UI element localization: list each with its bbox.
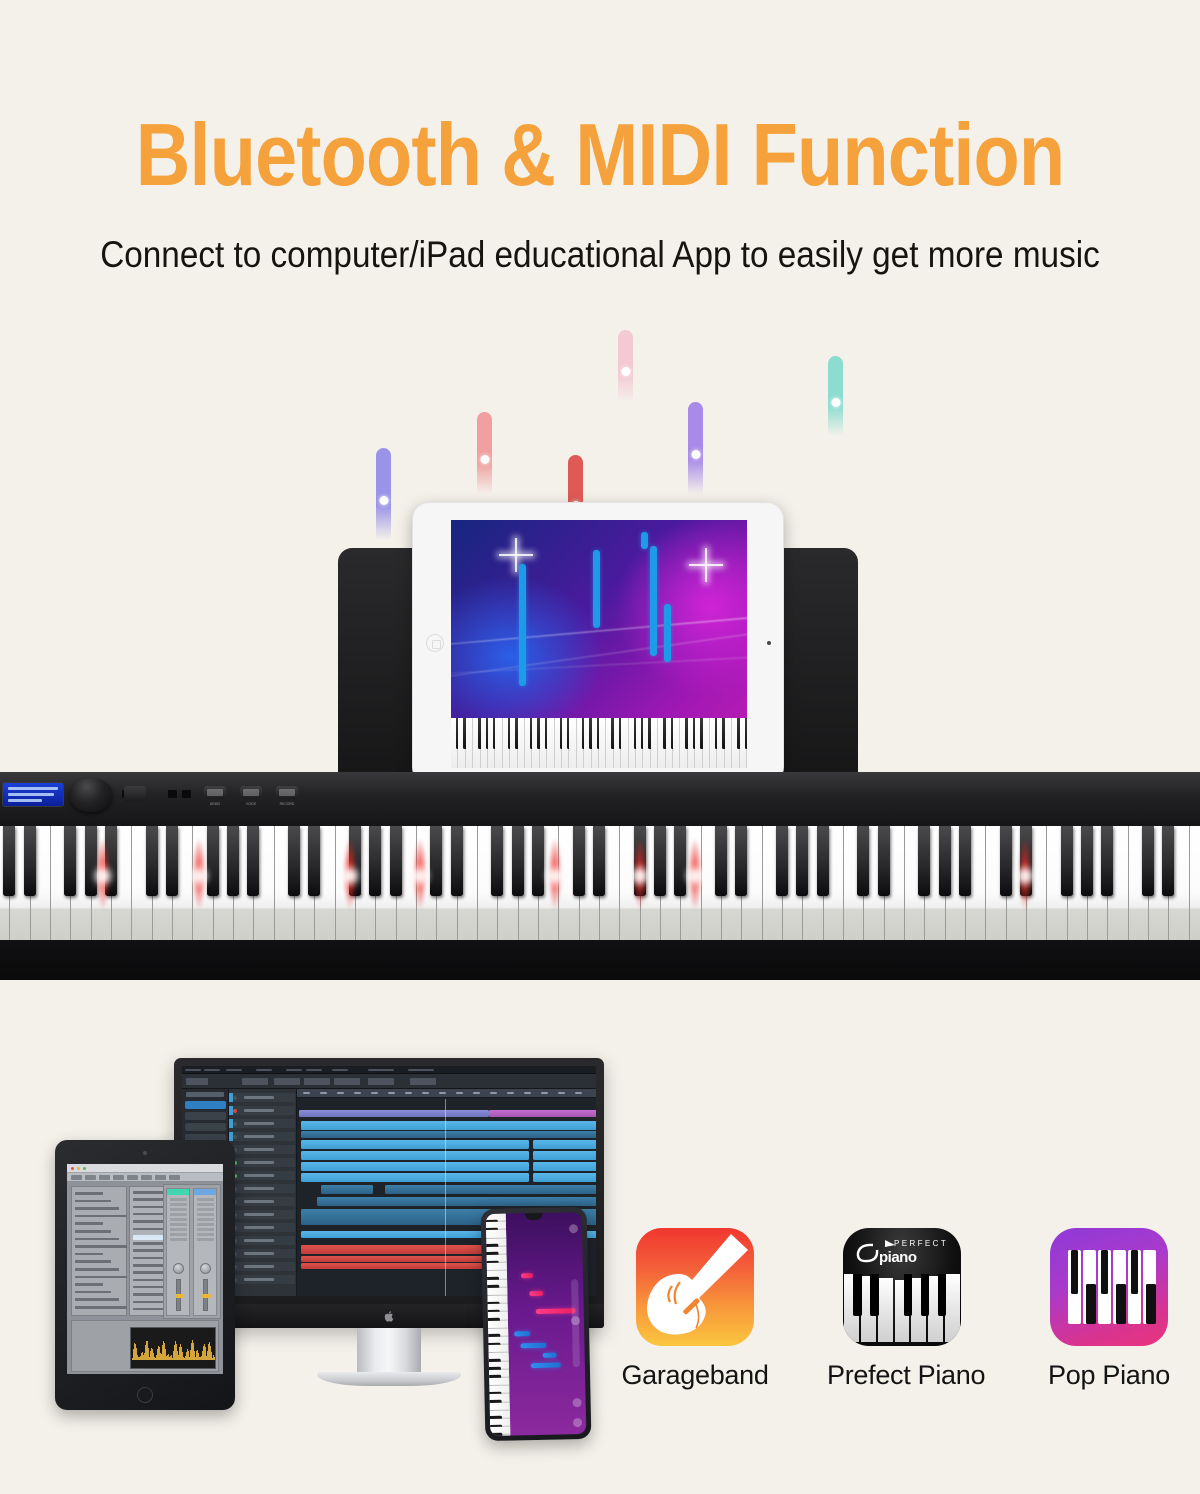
function-button[interactable] <box>124 786 146 802</box>
phone-note <box>529 1291 543 1296</box>
piano-black-key[interactable] <box>64 826 76 896</box>
page-subtitle: Connect to computer/iPad educational App… <box>60 232 1140 278</box>
ruler-tick[interactable] <box>388 1092 395 1094</box>
live-toolbar-button[interactable] <box>113 1175 124 1180</box>
daw-timeline-ruler[interactable] <box>297 1089 596 1098</box>
tablet-device <box>55 1140 235 1410</box>
send-slot[interactable] <box>197 1203 214 1206</box>
phone-note <box>520 1343 546 1349</box>
piano-black-key[interactable] <box>674 826 686 896</box>
device-cluster <box>0 1030 640 1450</box>
browser-item[interactable] <box>75 1207 119 1210</box>
piano-black-key[interactable] <box>745 718 747 749</box>
piano-black-key[interactable] <box>247 826 259 896</box>
apple-logo-icon <box>384 1311 394 1322</box>
live-toolbar-button[interactable] <box>99 1175 110 1180</box>
icon-black-key <box>904 1274 912 1316</box>
live-toolbar-button[interactable] <box>141 1175 152 1180</box>
home-button-icon[interactable] <box>426 634 444 652</box>
piano-black-key[interactable] <box>85 826 97 896</box>
device-list-item[interactable] <box>133 1264 167 1267</box>
ruler-tick[interactable] <box>507 1092 514 1094</box>
phone-note <box>536 1308 576 1314</box>
ruler-tick[interactable] <box>490 1092 497 1094</box>
device-list-item[interactable] <box>133 1191 167 1194</box>
pan-knob[interactable] <box>173 1263 184 1274</box>
phone-vertical-keyboard[interactable] <box>486 1214 511 1436</box>
live-toolbar-button[interactable] <box>127 1175 138 1180</box>
mixer-channel[interactable] <box>193 1188 217 1316</box>
piano-black-key[interactable] <box>430 826 442 896</box>
daw-clip[interactable] <box>385 1185 596 1194</box>
browser-item[interactable] <box>75 1215 127 1218</box>
piano-black-key[interactable] <box>593 826 605 896</box>
volume-knob[interactable] <box>70 778 112 812</box>
note-pink <box>477 412 492 494</box>
live-toolbar[interactable] <box>67 1173 223 1182</box>
window-titlebar[interactable] <box>67 1164 223 1173</box>
record-button-label: RECORD <box>274 802 300 806</box>
send-slot[interactable] <box>170 1218 187 1221</box>
send-slot[interactable] <box>170 1228 187 1231</box>
piano-white-key[interactable] <box>673 718 680 768</box>
live-toolbar-button[interactable] <box>85 1175 96 1180</box>
send-slot[interactable] <box>170 1213 187 1216</box>
icon-black-key <box>853 1274 861 1316</box>
phone-note <box>531 1362 561 1368</box>
send-slot[interactable] <box>197 1233 214 1236</box>
daw-track-row[interactable] <box>231 1184 295 1193</box>
ipad-device <box>412 502 784 784</box>
menu-item[interactable] <box>204 1069 220 1072</box>
camera-icon <box>143 1151 147 1155</box>
piano-black-key[interactable] <box>532 826 544 896</box>
app-note-bar <box>519 564 526 686</box>
piano-black-key[interactable] <box>24 826 36 896</box>
toolbar-button[interactable] <box>368 1078 394 1085</box>
browser-item[interactable] <box>75 1192 103 1195</box>
mixer-channel[interactable] <box>166 1188 190 1316</box>
port-b-icon <box>182 790 191 798</box>
menu-item[interactable] <box>226 1069 242 1072</box>
note-pale-pink-top <box>618 330 633 402</box>
volume-fader[interactable] <box>176 1279 181 1311</box>
piano-black-key[interactable] <box>349 826 361 896</box>
piano-black-key[interactable] <box>959 826 971 896</box>
toolbar-button[interactable] <box>410 1078 436 1085</box>
phone-grid-icon[interactable] <box>573 1398 582 1407</box>
phone-note <box>543 1353 557 1358</box>
ipad-app-keyboard <box>451 718 747 768</box>
daw-track-row[interactable] <box>231 1249 295 1258</box>
page-title: Bluetooth & MIDI Function <box>84 104 1116 206</box>
icon-black-key <box>1131 1250 1138 1294</box>
icon-white-key <box>945 1274 960 1342</box>
menu-item[interactable] <box>256 1069 272 1072</box>
browser-item[interactable] <box>75 1283 103 1286</box>
browser-item[interactable] <box>75 1253 103 1256</box>
send-slot[interactable] <box>197 1218 214 1221</box>
menu-item[interactable] <box>368 1069 394 1072</box>
piano-white-key[interactable] <box>547 718 554 768</box>
daw-clip[interactable] <box>533 1173 596 1182</box>
piano-black-key[interactable] <box>735 826 747 896</box>
daw-clip[interactable] <box>301 1256 503 1262</box>
send-slot[interactable] <box>197 1198 214 1201</box>
piano-black-key[interactable] <box>939 826 951 896</box>
piano-black-key[interactable] <box>1061 826 1073 896</box>
app-perfect-piano[interactable]: PERFECT piano Prefect Piano <box>827 1228 977 1391</box>
live-toolbar-button[interactable] <box>169 1175 180 1180</box>
piano-keys-icon: PERFECT piano <box>843 1228 961 1346</box>
piano-black-key[interactable] <box>166 826 178 896</box>
phone-note <box>514 1331 530 1336</box>
piano-white-key[interactable] <box>466 718 473 768</box>
icon-black-key <box>1116 1284 1126 1324</box>
record-button[interactable] <box>276 786 298 799</box>
daw-track-row[interactable] <box>231 1262 295 1271</box>
app-note-bar <box>641 532 648 549</box>
guitar-icon <box>636 1228 754 1346</box>
send-slot[interactable] <box>197 1223 214 1226</box>
browser-item[interactable] <box>75 1298 119 1301</box>
ruler-tick[interactable] <box>541 1092 548 1094</box>
browser-item[interactable] <box>75 1268 119 1271</box>
piano-white-key[interactable] <box>518 718 525 768</box>
waveform-display[interactable] <box>130 1327 216 1369</box>
piano-black-key[interactable] <box>512 826 524 896</box>
piano-black-key[interactable] <box>573 826 585 896</box>
piano-black-key[interactable] <box>1020 826 1032 896</box>
menu-item[interactable] <box>306 1069 322 1072</box>
piano-base <box>0 940 1200 980</box>
demo-button-label: DEMO <box>202 802 228 806</box>
piano-black-key[interactable] <box>105 826 117 896</box>
daw-track-row[interactable] <box>231 1223 295 1232</box>
note-lavender-left <box>376 448 391 540</box>
browser-item[interactable] <box>75 1276 127 1279</box>
port-a-icon <box>168 790 177 798</box>
piano-black-key[interactable] <box>878 826 890 896</box>
app-garageband-label: Garageband <box>620 1360 770 1391</box>
compatible-apps: Garageband PERFECT piano Prefect Piano P… <box>620 1228 1200 1428</box>
browser-item[interactable] <box>75 1200 111 1203</box>
piano-black-key[interactable] <box>796 826 808 896</box>
piano-black-key[interactable] <box>857 826 869 896</box>
daw-track-row[interactable] <box>231 1197 295 1206</box>
piano-black-key[interactable] <box>654 826 666 896</box>
daw-track-row[interactable] <box>231 1132 295 1141</box>
ruler-tick[interactable] <box>456 1092 463 1094</box>
piano-black-key[interactable] <box>1081 826 1093 896</box>
ruler-tick[interactable] <box>575 1092 582 1094</box>
daw-track-row[interactable] <box>231 1093 295 1102</box>
menu-item[interactable] <box>286 1069 302 1072</box>
piano-black-key[interactable] <box>715 826 727 896</box>
send-slot[interactable] <box>197 1228 214 1231</box>
demo-button[interactable] <box>204 786 226 799</box>
waveform-bar <box>215 1355 216 1360</box>
ruler-tick[interactable] <box>371 1092 378 1094</box>
svg-text:PERFECT: PERFECT <box>894 1239 948 1248</box>
phone-screen[interactable] <box>486 1212 587 1436</box>
daw-clip[interactable] <box>317 1197 596 1206</box>
ruler-tick[interactable] <box>558 1092 565 1094</box>
app-pop-piano[interactable]: Pop Piano <box>1034 1228 1184 1391</box>
digital-piano: DEMO VOICE RECORD <box>0 540 1200 970</box>
ruler-tick[interactable] <box>303 1092 310 1094</box>
piano-black-key[interactable] <box>390 826 402 896</box>
daw-track-row[interactable] <box>231 1158 295 1167</box>
send-slot[interactable] <box>170 1238 187 1241</box>
piano-black-key[interactable] <box>451 826 463 896</box>
menu-item[interactable] <box>408 1069 434 1072</box>
piano-white-key[interactable] <box>495 718 502 768</box>
daw-clip[interactable] <box>301 1245 503 1254</box>
notch <box>525 1213 543 1220</box>
piano-white-key[interactable] <box>1190 826 1200 942</box>
daw-clip[interactable] <box>489 1110 596 1117</box>
piano-keyboard[interactable] <box>0 826 1200 942</box>
app-pop-piano-label: Pop Piano <box>1034 1360 1184 1391</box>
camera-icon <box>767 641 771 645</box>
daw-track-row[interactable] <box>231 1275 295 1284</box>
send-slot[interactable] <box>170 1208 187 1211</box>
app-note-bar <box>664 604 671 662</box>
ruler-tick[interactable] <box>354 1092 361 1094</box>
menu-item[interactable] <box>185 1069 201 1072</box>
piano-black-key[interactable] <box>207 826 219 896</box>
daw-track-row[interactable] <box>231 1210 295 1219</box>
phone-black-key[interactable] <box>490 1433 502 1436</box>
browser-item[interactable] <box>75 1260 111 1263</box>
piano-black-key[interactable] <box>776 826 788 896</box>
send-slot[interactable] <box>170 1233 187 1236</box>
pan-knob[interactable] <box>200 1263 211 1274</box>
daw-track-list[interactable] <box>229 1089 297 1296</box>
app-perfect-piano-label: Prefect Piano <box>827 1360 977 1391</box>
home-button-icon[interactable] <box>137 1387 153 1403</box>
device-list-item[interactable] <box>133 1228 167 1231</box>
icon-black-key <box>1071 1250 1078 1294</box>
piano-black-key[interactable] <box>227 826 239 896</box>
toolbar-button[interactable] <box>242 1078 268 1085</box>
daw-clip[interactable] <box>533 1140 596 1149</box>
voice-button-label: VOICE <box>238 802 264 806</box>
ruler-tick[interactable] <box>320 1092 327 1094</box>
send-slot[interactable] <box>197 1208 214 1211</box>
daw-clip[interactable] <box>301 1140 529 1149</box>
daw-clip[interactable] <box>301 1151 529 1160</box>
ipad-screen[interactable] <box>451 520 747 768</box>
ruler-tick[interactable] <box>337 1092 344 1094</box>
send-slot[interactable] <box>197 1238 214 1241</box>
ruler-tick[interactable] <box>439 1092 446 1094</box>
ruler-tick[interactable] <box>405 1092 412 1094</box>
piano-white-key[interactable] <box>725 718 732 768</box>
daw-track-row[interactable] <box>231 1145 295 1154</box>
lcd-display <box>2 782 64 807</box>
piano-black-key[interactable] <box>3 826 15 896</box>
icon-black-key <box>1086 1284 1096 1324</box>
sidebar-item[interactable] <box>185 1101 226 1109</box>
ruler-tick[interactable] <box>422 1092 429 1094</box>
piano-black-key[interactable] <box>1142 826 1154 896</box>
browser-item[interactable] <box>75 1245 127 1248</box>
daw-clip[interactable] <box>533 1151 596 1160</box>
browser-item[interactable] <box>75 1306 127 1309</box>
piano-black-key[interactable] <box>817 826 829 896</box>
toolbar-button[interactable] <box>186 1078 208 1085</box>
live-detail-panel[interactable] <box>71 1320 219 1372</box>
ruler-tick[interactable] <box>524 1092 531 1094</box>
piano-black-key[interactable] <box>369 826 381 896</box>
note-teal <box>828 356 843 436</box>
live-toolbar-button[interactable] <box>71 1175 82 1180</box>
piano-white-key[interactable] <box>651 718 658 768</box>
icon-black-key <box>870 1274 878 1316</box>
note-purple <box>688 402 703 494</box>
daw-clip[interactable] <box>301 1131 596 1138</box>
daw-track-row[interactable] <box>231 1119 295 1128</box>
app-note-bar <box>650 546 657 656</box>
phone-note <box>521 1273 533 1278</box>
send-slot[interactable] <box>170 1203 187 1206</box>
daw-clip[interactable] <box>299 1110 489 1117</box>
daw-toolbar[interactable] <box>182 1074 596 1089</box>
pop-keys-icon <box>1050 1228 1168 1346</box>
toolbar-button[interactable] <box>304 1078 330 1085</box>
playhead[interactable] <box>445 1099 446 1296</box>
browser-item[interactable] <box>75 1238 119 1241</box>
sidebar-item[interactable] <box>185 1123 226 1131</box>
live-browser-panel[interactable] <box>71 1186 127 1316</box>
voice-button[interactable] <box>240 786 262 799</box>
menu-item[interactable] <box>332 1069 348 1072</box>
browser-item[interactable] <box>75 1291 111 1294</box>
piano-black-key[interactable] <box>308 826 320 896</box>
sidebar-item[interactable] <box>185 1112 226 1120</box>
daw-clip[interactable] <box>321 1185 373 1194</box>
app-note-bar <box>593 550 600 628</box>
browser-item[interactable] <box>75 1222 103 1225</box>
send-slot[interactable] <box>170 1198 187 1201</box>
sidebar-header[interactable] <box>186 1092 224 1097</box>
piano-white-key[interactable] <box>703 718 710 768</box>
smartphone-device <box>481 1207 592 1441</box>
toolbar-button[interactable] <box>334 1078 360 1085</box>
daw-clip[interactable] <box>301 1121 596 1130</box>
piano-white-key[interactable] <box>599 718 606 768</box>
icon-black-key <box>921 1274 929 1316</box>
app-garageband[interactable]: Garageband <box>620 1228 770 1391</box>
piano-black-key[interactable] <box>1000 826 1012 896</box>
icon-black-key <box>1101 1250 1108 1294</box>
daw-track-row[interactable] <box>231 1236 295 1245</box>
piano-black-key[interactable] <box>288 826 300 896</box>
ableton-screen[interactable] <box>67 1164 223 1374</box>
daw-clip[interactable] <box>533 1162 596 1171</box>
live-mixer-panel[interactable] <box>163 1184 221 1319</box>
browser-item[interactable] <box>75 1230 111 1233</box>
phone-menu-icon[interactable] <box>569 1224 578 1233</box>
daw-clip[interactable] <box>301 1263 503 1269</box>
piano-black-key[interactable] <box>1101 826 1113 896</box>
daw-clip[interactable] <box>301 1162 529 1171</box>
phone-power-icon[interactable] <box>573 1418 582 1427</box>
toolbar-button[interactable] <box>274 1078 300 1085</box>
volume-fader[interactable] <box>203 1279 208 1311</box>
daw-menubar[interactable] <box>182 1066 596 1074</box>
piano-black-key[interactable] <box>491 826 503 896</box>
piano-black-key[interactable] <box>634 826 646 896</box>
live-toolbar-button[interactable] <box>155 1175 166 1180</box>
icon-black-key <box>938 1274 946 1316</box>
piano-white-key[interactable] <box>621 718 628 768</box>
daw-clip[interactable] <box>301 1173 529 1182</box>
piano-black-key[interactable] <box>1162 826 1174 896</box>
piano-top-panel <box>0 772 1200 830</box>
daw-track-row[interactable] <box>231 1171 295 1180</box>
device-list-item[interactable] <box>133 1301 167 1304</box>
send-slot[interactable] <box>170 1223 187 1226</box>
daw-track-row[interactable] <box>231 1106 295 1115</box>
piano-black-key[interactable] <box>918 826 930 896</box>
svg-text:piano: piano <box>879 1249 917 1266</box>
piano-white-key[interactable] <box>569 718 576 768</box>
icon-white-key <box>878 1278 893 1342</box>
send-slot[interactable] <box>197 1213 214 1216</box>
ruler-tick[interactable] <box>473 1092 480 1094</box>
piano-black-key[interactable] <box>146 826 158 896</box>
perfect-piano-logo: PERFECT piano <box>851 1236 951 1270</box>
icon-black-key <box>1146 1284 1156 1324</box>
imac-stand-foot <box>317 1372 461 1386</box>
